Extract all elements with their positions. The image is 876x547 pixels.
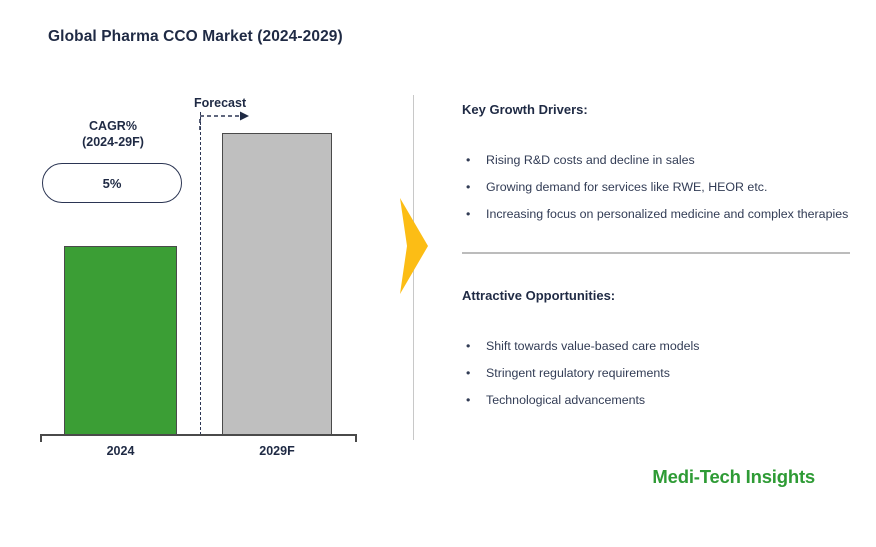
attractive-opportunities-list: • Shift towards value-based care models …: [462, 336, 854, 417]
content-panel: Key Growth Drivers: • Rising R&D costs a…: [462, 0, 862, 500]
list-item-label: Rising R&D costs and decline in sales: [486, 153, 695, 167]
bullet-icon: •: [466, 390, 470, 411]
attractive-opportunities-heading: Attractive Opportunities:: [462, 288, 615, 303]
chart-panel: CAGR% (2024-29F) 5% Forecast 2024 2029F: [0, 0, 400, 500]
forecast-divider-line: [200, 112, 201, 435]
bullet-icon: •: [466, 336, 470, 357]
bullet-icon: •: [466, 204, 470, 225]
x-axis-line: [40, 434, 357, 436]
key-growth-drivers-heading: Key Growth Drivers:: [462, 102, 588, 117]
axis-tick-right: [355, 434, 357, 442]
list-item: • Increasing focus on personalized medic…: [462, 204, 854, 225]
list-item: • Shift towards value-based care models: [462, 336, 854, 357]
forecast-label: Forecast: [194, 96, 246, 110]
axis-tick-left: [40, 434, 42, 442]
list-item-label: Stringent regulatory requirements: [486, 366, 670, 380]
chevron-right-arrow-icon: [397, 196, 431, 296]
list-item: • Rising R&D costs and decline in sales: [462, 150, 854, 171]
list-item: • Growing demand for services like RWE, …: [462, 177, 854, 198]
cagr-label: CAGR% (2024-29F): [42, 118, 184, 150]
list-item-label: Growing demand for services like RWE, HE…: [486, 180, 767, 194]
bullet-icon: •: [466, 363, 470, 384]
bar-2029f: [222, 133, 332, 435]
cagr-label-line2: (2024-29F): [42, 134, 184, 150]
cagr-label-line1: CAGR%: [42, 118, 184, 134]
bullet-icon: •: [466, 150, 470, 171]
axis-label-2029f: 2029F: [222, 444, 332, 458]
cagr-value-badge: 5%: [42, 163, 182, 203]
list-item-label: Increasing focus on personalized medicin…: [486, 207, 848, 221]
section-divider: [462, 252, 850, 254]
brand-logo: Medi-Tech Insights: [652, 466, 815, 488]
axis-label-2024: 2024: [64, 444, 177, 458]
cagr-value: 5%: [103, 176, 122, 191]
list-item: • Stringent regulatory requirements: [462, 363, 854, 384]
bullet-icon: •: [466, 177, 470, 198]
key-growth-drivers-list: • Rising R&D costs and decline in sales …: [462, 150, 854, 231]
list-item-label: Technological advancements: [486, 393, 645, 407]
list-item: • Technological advancements: [462, 390, 854, 411]
bar-2024: [64, 246, 177, 435]
list-item-label: Shift towards value-based care models: [486, 339, 700, 353]
